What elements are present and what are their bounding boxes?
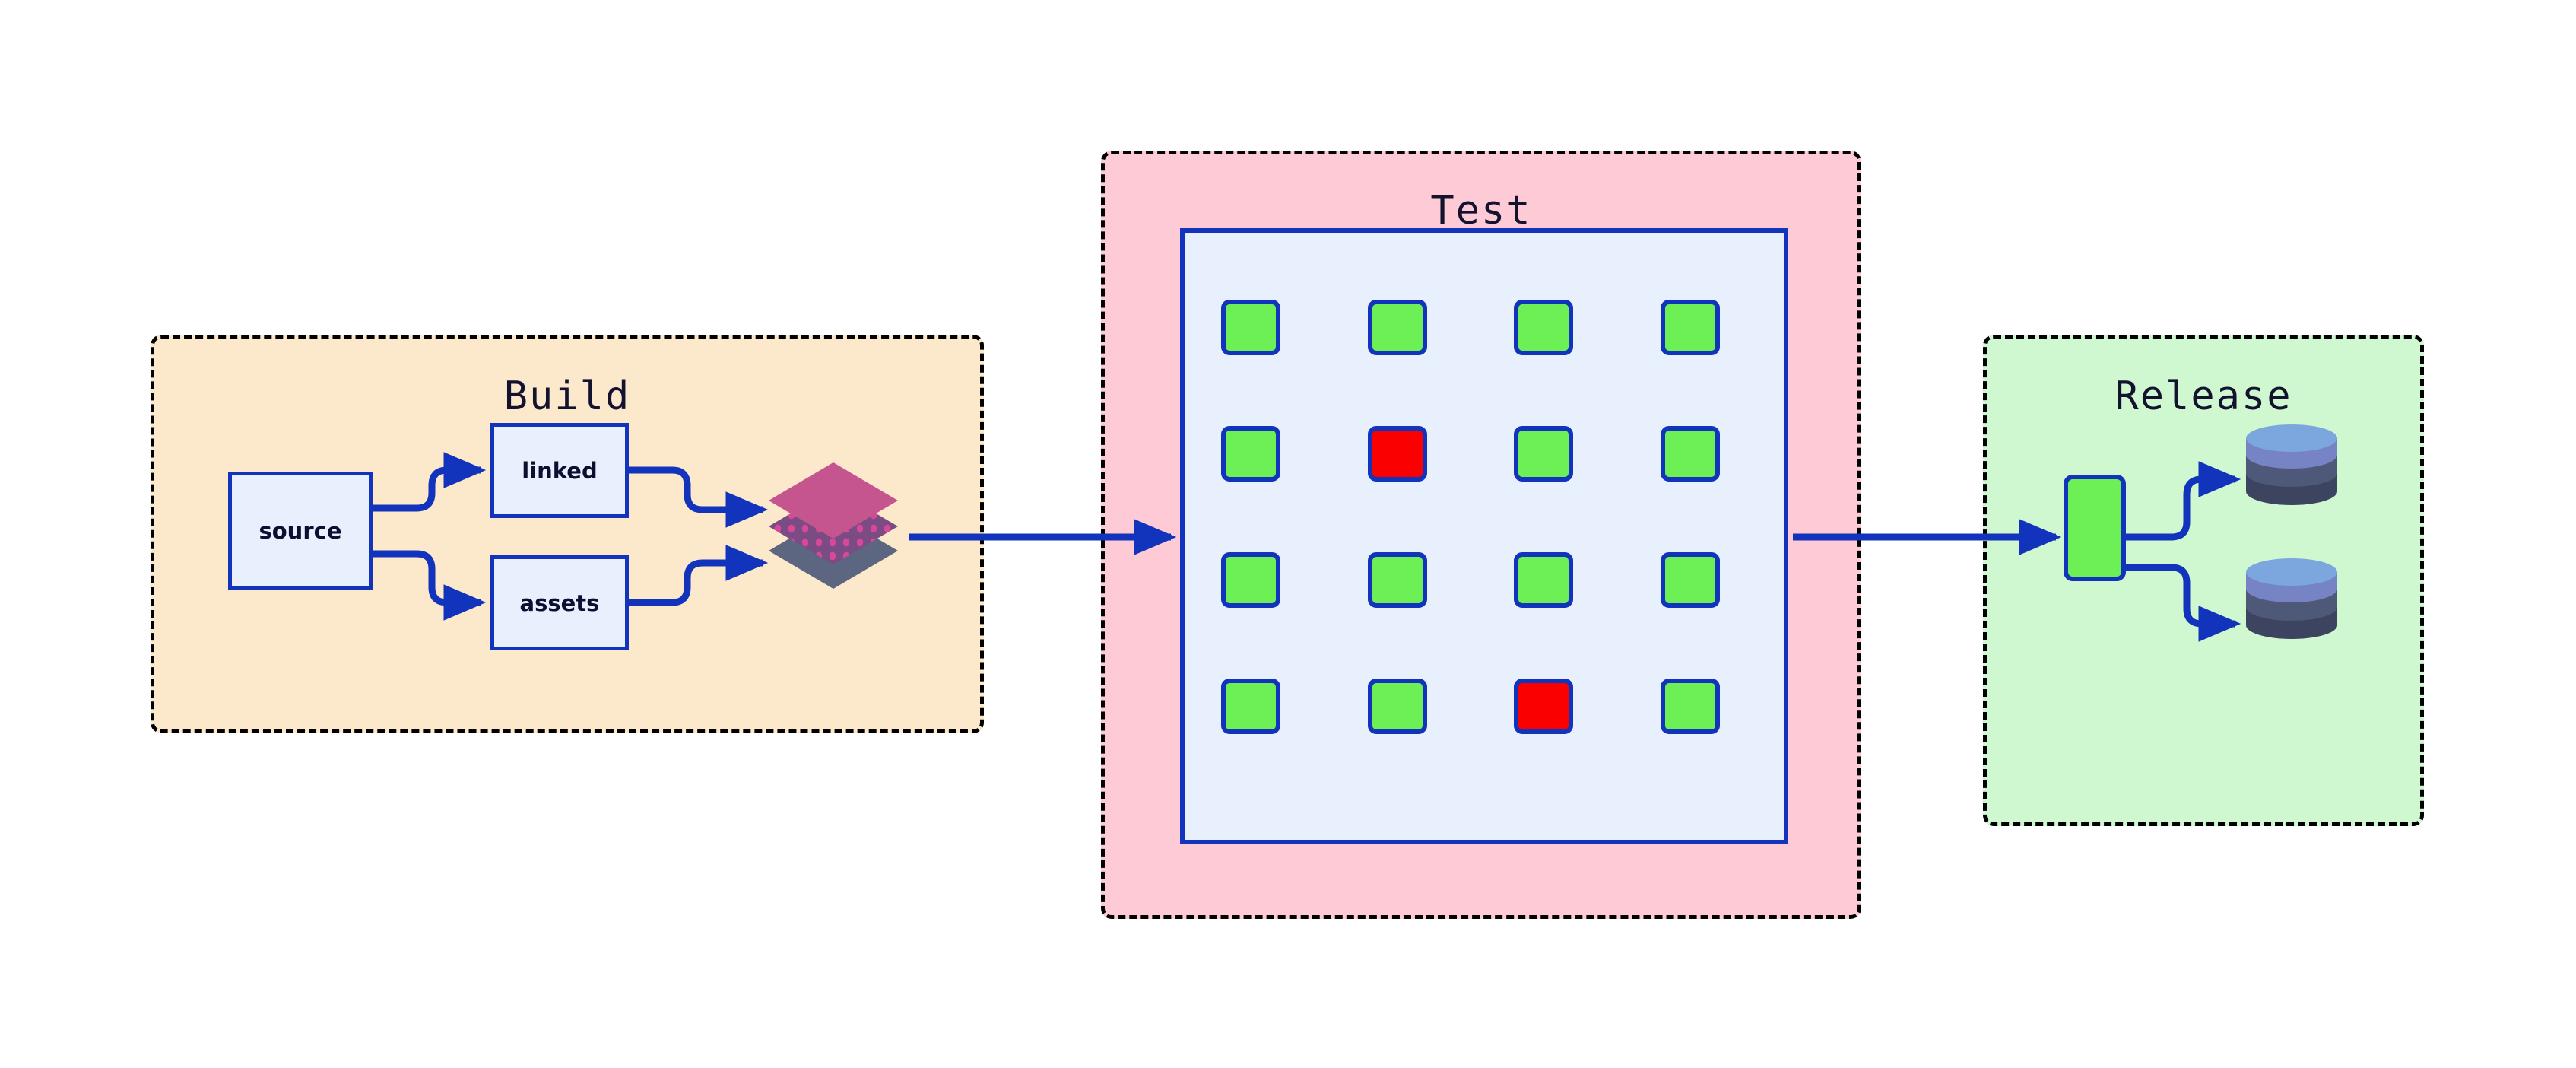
test-cell-pass[interactable] xyxy=(1221,679,1280,734)
test-cell-fail[interactable] xyxy=(1514,679,1573,734)
test-cell-pass[interactable] xyxy=(1514,300,1573,355)
test-cell-pass[interactable] xyxy=(1368,679,1427,734)
layers-stack-icon[interactable] xyxy=(757,453,909,602)
test-cell-pass[interactable] xyxy=(1368,552,1427,608)
test-cell-pass[interactable] xyxy=(1661,552,1720,608)
database-icon-primary[interactable] xyxy=(2241,420,2342,510)
database-icon-secondary[interactable] xyxy=(2241,554,2342,644)
test-cell-pass[interactable] xyxy=(1368,300,1427,355)
test-results-grid xyxy=(1221,300,1756,764)
release-artifact-bar[interactable] xyxy=(2064,475,2126,581)
test-cell-pass[interactable] xyxy=(1221,300,1280,355)
test-cell-pass[interactable] xyxy=(1661,426,1720,482)
node-linked-label: linked xyxy=(522,458,597,484)
node-assets-label: assets xyxy=(520,590,600,616)
node-source-label: source xyxy=(259,518,342,544)
test-cell-pass[interactable] xyxy=(1514,552,1573,608)
cluster-build-title: Build xyxy=(154,377,980,416)
test-results-panel[interactable] xyxy=(1180,228,1788,844)
node-linked[interactable]: linked xyxy=(490,423,629,518)
node-source[interactable]: source xyxy=(228,472,373,590)
test-cell-pass[interactable] xyxy=(1661,679,1720,734)
test-cell-pass[interactable] xyxy=(1221,426,1280,482)
test-cell-pass[interactable] xyxy=(1221,552,1280,608)
diagram-canvas: Build source linked assets Test xyxy=(0,0,2576,1068)
cluster-release-title: Release xyxy=(1987,377,2420,416)
test-cell-pass[interactable] xyxy=(1514,426,1573,482)
test-cell-pass[interactable] xyxy=(1661,300,1720,355)
test-cell-fail[interactable] xyxy=(1368,426,1427,482)
node-assets[interactable]: assets xyxy=(490,555,629,650)
cluster-test-title: Test xyxy=(1105,191,1857,230)
cluster-release[interactable]: Release xyxy=(1983,335,2424,826)
